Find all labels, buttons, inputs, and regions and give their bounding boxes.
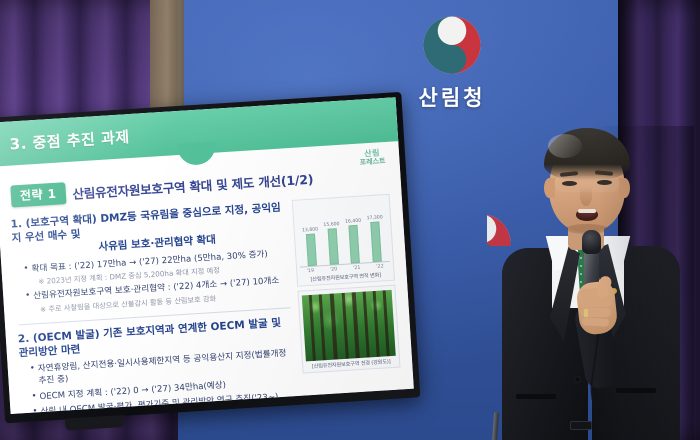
slide-figure-column: 13,80015,60016,40017,300 '19'20'21'22 [산… xyxy=(292,194,403,414)
chart-bar xyxy=(306,234,317,266)
taegeuk-emblem-icon xyxy=(421,14,483,76)
strategy-badge: 전략 1 xyxy=(10,182,66,207)
slide-body: 산림 포레스트 전략 1 산림유전자원보호구역 확대 및 제도 개선(1/2) xyxy=(0,141,414,414)
presentation-screen: 3. 중점 추진 과제 산림 포레스트 전략 1 산림유전자원보호구역 확대 및… xyxy=(0,92,420,424)
slide-header-title: 3. 중점 추진 과제 xyxy=(9,126,130,155)
suit-pocket-left xyxy=(516,394,556,399)
finger-4 xyxy=(582,317,609,326)
chart-bar-column: 13,800 xyxy=(301,213,320,266)
forest-photo-card: [산림유전자원보호구역 전경 (강원도)] xyxy=(297,285,400,374)
slide-section-1: 1. (보호구역 확대) DMZ등 국유림을 중심으로 지정, 공익임지 우선 … xyxy=(10,200,292,316)
belt-buckle xyxy=(570,421,592,430)
ear-right xyxy=(619,178,630,198)
strategy-title: 산림유전자원보호구역 확대 및 제도 개선(1/2) xyxy=(72,168,314,202)
chart-plot-area: 13,80015,60016,40017,300 xyxy=(296,199,390,267)
chart-x-tick-label: '20 xyxy=(326,267,340,273)
forest-service-watermark-logo: 산림 포레스트 xyxy=(359,148,386,167)
chart-bar xyxy=(349,225,360,263)
microphone-head-icon xyxy=(582,230,601,254)
chart-x-tick-label: '21 xyxy=(350,266,364,272)
chart-x-tick-label: '22 xyxy=(373,264,387,270)
speaker-figure xyxy=(494,126,694,440)
chart-bar-column: 15,600 xyxy=(323,212,342,265)
agency-name-label: 산림청 xyxy=(392,82,512,112)
slide: 3. 중점 추진 과제 산림 포레스트 전략 1 산림유전자원보호구역 확대 및… xyxy=(0,97,414,414)
microphone-cable xyxy=(582,318,700,440)
slide-text-column: 1. (보호구역 확대) DMZ등 국유림을 중심으로 지정, 공익임지 우선 … xyxy=(10,200,299,414)
chart-bar-value-label: 13,800 xyxy=(302,228,318,234)
chart-bar-column: 17,300 xyxy=(366,209,385,262)
chart-bar-column: 16,400 xyxy=(344,211,363,264)
screen-surface: 3. 중점 추진 과제 산림 포레스트 전략 1 산림유전자원보호구역 확대 및… xyxy=(0,97,414,414)
slide-section-2: 2. (OECM 발굴) 기존 보호지역과 연계한 OECM 발굴 및 관리방안… xyxy=(18,315,300,414)
photo-canopy-layer xyxy=(302,290,396,362)
screen-bezel: 3. 중점 추진 과제 산림 포레스트 전략 1 산림유전자원보호구역 확대 및… xyxy=(0,92,420,424)
chart-bar-value-label: 17,300 xyxy=(367,216,383,222)
chart-bar xyxy=(327,228,338,264)
watermark-bottom-text: 포레스트 xyxy=(360,157,386,167)
hair-highlight xyxy=(548,134,582,158)
chart-x-tick-label: '19 xyxy=(303,268,317,274)
chart-bar-value-label: 16,400 xyxy=(345,219,361,225)
press-briefing-photo: 산림청 3. 중점 추진 과제 산림 포레스트 xyxy=(0,0,700,440)
suit-button xyxy=(574,376,581,383)
nose xyxy=(580,186,592,206)
slide-content-columns: 1. (보호구역 확대) DMZ등 국유림을 중심으로 지정, 공익임지 우선 … xyxy=(10,194,403,414)
area-bar-chart: 13,80015,60016,40017,300 '19'20'21'22 [산… xyxy=(292,194,395,287)
forest-canopy-photo xyxy=(302,290,396,362)
finger-2 xyxy=(580,297,612,307)
agency-emblem-block: 산림청 xyxy=(392,14,512,112)
chart-bar-value-label: 15,600 xyxy=(323,222,339,228)
teeth xyxy=(578,209,596,213)
chart-bar xyxy=(370,222,381,262)
ring xyxy=(584,309,588,317)
